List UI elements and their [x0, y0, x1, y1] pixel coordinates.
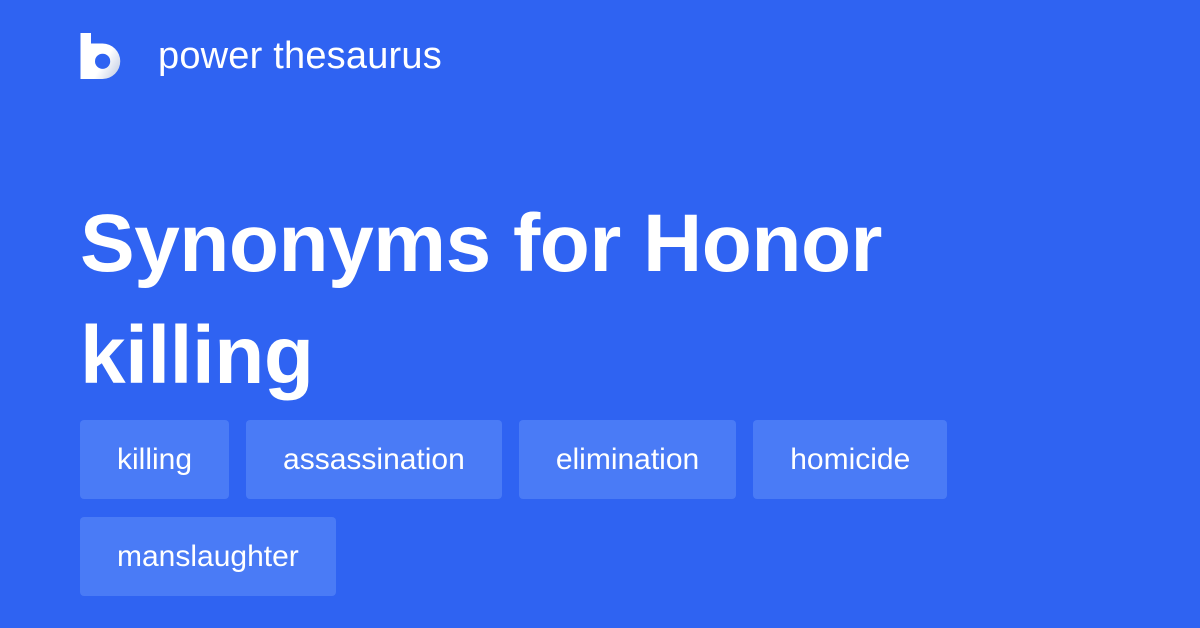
synonym-chip[interactable]: killing	[80, 420, 229, 499]
share-card: power thesaurus Synonyms for Honor killi…	[0, 0, 1200, 628]
brand-name: power thesaurus	[158, 33, 442, 79]
brand-header[interactable]: power thesaurus	[80, 30, 442, 82]
page-title-line-1: Synonyms for Honor	[80, 188, 1120, 300]
synonym-chip[interactable]: assassination	[246, 420, 502, 499]
synonym-chip[interactable]: elimination	[519, 420, 736, 499]
page-title: Synonyms for Honor killing	[80, 188, 1120, 412]
synonym-chip[interactable]: homicide	[753, 420, 947, 499]
power-thesaurus-b-logo-icon	[80, 33, 126, 79]
page-title-line-2: killing	[80, 300, 1120, 412]
synonym-chip-list: killing assassination elimination homici…	[80, 420, 1120, 596]
synonym-chip[interactable]: manslaughter	[80, 517, 336, 596]
